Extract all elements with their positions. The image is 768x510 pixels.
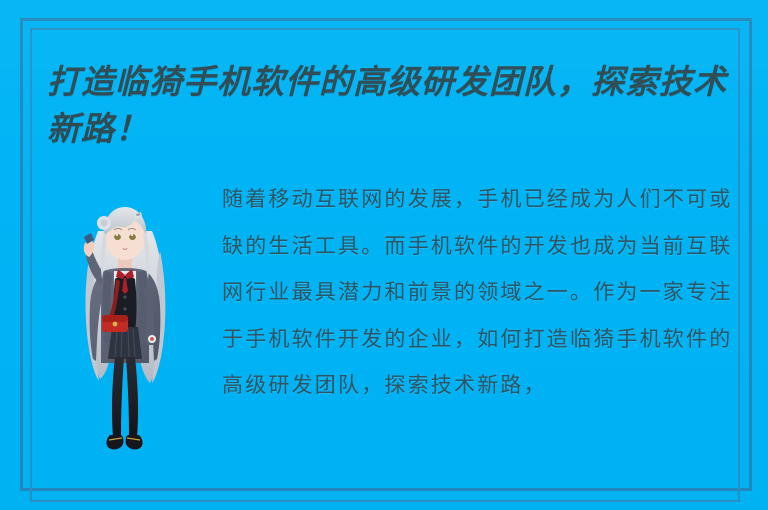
hair-bun-inner: [101, 220, 108, 227]
shoe-right: [126, 435, 143, 449]
vest-button-2: [123, 307, 126, 310]
eye-highlight-right: [131, 234, 133, 236]
coat-charm-dot: [150, 337, 154, 341]
bag-flap: [102, 315, 128, 322]
poster-title: 打造临猗手机软件的高级研发团队，探索技术新路！: [47, 58, 737, 152]
shoe-left: [106, 435, 123, 449]
bag-clasp: [113, 322, 118, 327]
poster-canvas: 打造临猗手机软件的高级研发团队，探索技术新路！ 随着移动互联网的发展，手机已经成…: [0, 0, 768, 510]
poster-body-text: 随着移动互联网的发展，手机已经成为人们不可或缺的生活工具。而手机软件的开发也成为…: [222, 176, 734, 409]
eye-highlight-left: [116, 234, 118, 236]
vest-button-1: [123, 295, 126, 298]
leg-right: [126, 357, 138, 437]
leg-left: [112, 357, 124, 437]
anime-girl-character: [60, 193, 190, 483]
